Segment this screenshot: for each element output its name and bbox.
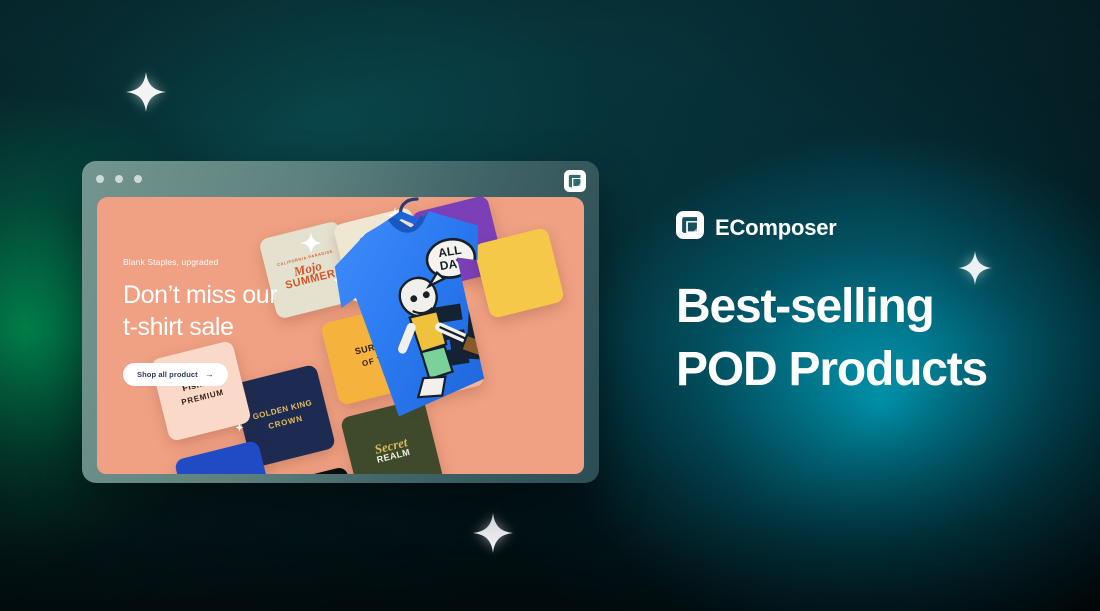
page-title: Best-selling POD Products	[676, 276, 1076, 402]
ecomposer-logo-icon	[676, 211, 704, 244]
window-dot-maximize[interactable]	[134, 175, 142, 183]
page-background: CALIFORNIA PARADISEMojoSUMMERSURVIOF TGO…	[0, 0, 1100, 611]
window-title-bar	[82, 161, 599, 197]
shirt-bubble-line2: DAY	[439, 256, 465, 274]
page-title-line2: POD Products	[676, 339, 1076, 402]
page-title-line1: Best-selling	[676, 276, 1076, 339]
browser-preview-window[interactable]: CALIFORNIA PARADISEMojoSUMMERSURVIOF TGO…	[82, 161, 599, 483]
arrow-right-icon: →	[205, 370, 214, 379]
hero-banner: CALIFORNIA PARADISEMojoSUMMERSURVIOF TGO…	[97, 197, 584, 474]
shop-all-product-button[interactable]: Shop all product →	[123, 363, 228, 386]
brand-lockup: EComposer	[676, 211, 837, 244]
blue-tshirt-on-hanger: ALL DAY	[313, 197, 513, 474]
brand-name: EComposer	[715, 215, 837, 241]
traffic-light-dots	[96, 175, 142, 183]
shop-all-product-label: Shop all product	[137, 370, 198, 379]
ecomposer-logo-icon	[564, 170, 586, 197]
right-content-panel: EComposer Best-selling POD Products	[676, 0, 1076, 611]
window-dot-close[interactable]	[96, 175, 104, 183]
window-dot-minimize[interactable]	[115, 175, 123, 183]
